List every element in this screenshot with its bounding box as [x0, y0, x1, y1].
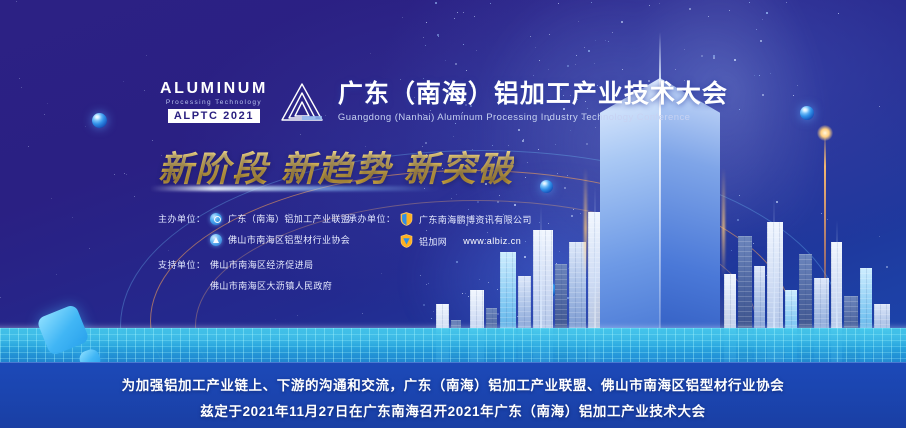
bottom-banner: 为加强铝加工产业链上、下游的沟通和交流，广东（南海）铝加工产业联盟、佛山市南海区… — [0, 362, 906, 428]
list-item: 广东南海鹏博资讯有限公司 — [400, 212, 532, 226]
triangle-a-logo-icon — [278, 80, 326, 124]
list-item: 铝加网 www.albiz.cn — [400, 234, 532, 248]
headline-underline — [150, 186, 440, 191]
logo-year-badge: ALPTC 2021 — [168, 109, 260, 123]
credits-host-name-1: 广东（南海）铝加工产业联盟 — [228, 212, 350, 225]
credits-support-name-2: 佛山市南海区大沥镇人民政府 — [210, 279, 332, 292]
list-item: 佛山市南海区经济促进局 — [210, 258, 332, 271]
credits-support-name-1: 佛山市南海区经济促进局 — [210, 258, 313, 271]
credits-organizer-row: 承办单位： 广东南海鹏博资讯有限公司 — [348, 212, 532, 248]
tower-mast — [659, 32, 661, 80]
credits-right: 承办单位： 广东南海鹏博资讯有限公司 — [348, 212, 532, 256]
light-spike-left — [584, 168, 587, 278]
list-item: 佛山市南海区大沥镇人民政府 — [210, 279, 332, 292]
headline-slogan: 新阶段 新趋势 新突破 — [158, 141, 514, 192]
bottom-banner-line-1: 为加强铝加工产业链上、下游的沟通和交流，广东（南海）铝加工产业联盟、佛山市南海区… — [0, 374, 906, 394]
credits-organizer-label: 承办单位： — [348, 212, 400, 225]
logo-wordmark-block: ALUMINUM Processing Technology ALPTC 202… — [160, 81, 268, 123]
list-item: 广东（南海）铝加工产业联盟 — [210, 212, 350, 225]
conference-poster: ALUMINUM Processing Technology ALPTC 202… — [0, 0, 906, 428]
shield-badge-icon — [400, 234, 413, 248]
credits-host-label: 主办单位： — [158, 212, 210, 225]
credits-organizer-items: 广东南海鹏博资讯有限公司 铝加网 www.albiz.cn — [400, 212, 532, 248]
credits-host-items: 广东（南海）铝加工产业联盟 佛山市南海区铝型材行业协会 — [210, 212, 350, 246]
credits-organizer-name-2: 铝加网 — [419, 235, 447, 248]
circle-badge-icon — [210, 213, 222, 225]
organizer-website-link[interactable]: www.albiz.cn — [463, 236, 521, 246]
bottom-banner-line-2: 兹定于2021年11月27日在广东南海召开2021年广东（南海）铝加工产业技术大… — [0, 400, 906, 420]
page-title: 广东（南海）铝加工产业技术大会 — [338, 81, 728, 108]
page-subtitle: Guangdong (Nanhai) Aluminum Processing I… — [338, 112, 728, 123]
credits-support-items: 佛山市南海区经济促进局 佛山市南海区大沥镇人民政府 — [210, 258, 332, 292]
credits-host-name-2: 佛山市南海区铝型材行业协会 — [228, 233, 350, 246]
credits-support-row: 支持单位： 佛山市南海区经济促进局 佛山市南海区大沥镇人民政府 — [158, 258, 538, 292]
credits-organizer-name-1: 广东南海鹏博资讯有限公司 — [419, 213, 532, 226]
light-spike-right — [722, 168, 725, 278]
shield-badge-icon — [400, 212, 413, 226]
credits-support-label: 支持单位： — [158, 258, 210, 271]
header-title-block: 广东（南海）铝加工产业技术大会 Guangdong (Nanhai) Alumi… — [338, 81, 728, 123]
logo-tagline: Processing Technology — [166, 99, 262, 106]
list-item: 佛山市南海区铝型材行业协会 — [210, 233, 350, 246]
poster-header: ALUMINUM Processing Technology ALPTC 202… — [160, 80, 728, 124]
triangle-badge-icon — [210, 234, 222, 246]
logo-wordmark: ALUMINUM — [160, 81, 268, 97]
